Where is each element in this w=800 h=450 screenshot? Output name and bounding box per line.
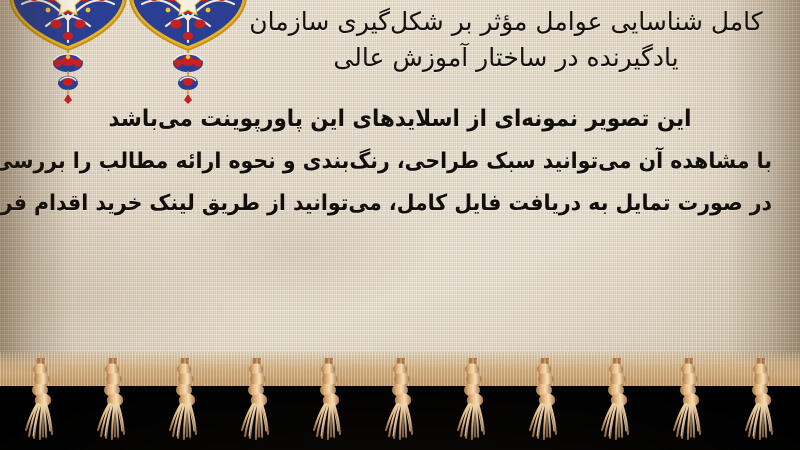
fringe-tassel (234, 358, 280, 444)
fringe-tassel (18, 358, 64, 444)
fringe-tassel (522, 358, 568, 444)
fringe-tassel (738, 358, 784, 444)
fringe-tassel (90, 358, 136, 444)
persian-medallion-icon-left (8, 0, 128, 105)
fringe-tassel (162, 358, 208, 444)
carpet-fringe (0, 352, 800, 450)
fringe-tassel (306, 358, 352, 444)
fringe-tassel (594, 358, 640, 444)
body-line-3: در صورت تمایل به دریافت فایل کامل، می‌تو… (28, 193, 772, 215)
carpet-field: کامل شناسایی عوامل مؤثر بر شکل‌گیری سازم… (0, 0, 800, 379)
body-line-1: این تصویر نمونه‌ای از اسلایدهای این پاور… (28, 108, 772, 131)
fringe-tassel (450, 358, 496, 444)
body-line-2: با مشاهده آن می‌توانید سبک طراحی، رنگ‌بن… (28, 151, 772, 173)
slide-title: کامل شناسایی عوامل مؤثر بر شکل‌گیری سازم… (230, 4, 782, 75)
slide-title-line-1: کامل شناسایی عوامل مؤثر بر شکل‌گیری سازم… (230, 4, 782, 40)
slide-title-line-2: یادگیرنده در ساختار آموزش عالی (230, 40, 782, 76)
fringe-tassel (666, 358, 712, 444)
slide-canvas: کامل شناسایی عوامل مؤثر بر شکل‌گیری سازم… (0, 0, 800, 450)
fringe-tassel (378, 358, 424, 444)
slide-body: این تصویر نمونه‌ای از اسلایدهای این پاور… (0, 108, 800, 235)
